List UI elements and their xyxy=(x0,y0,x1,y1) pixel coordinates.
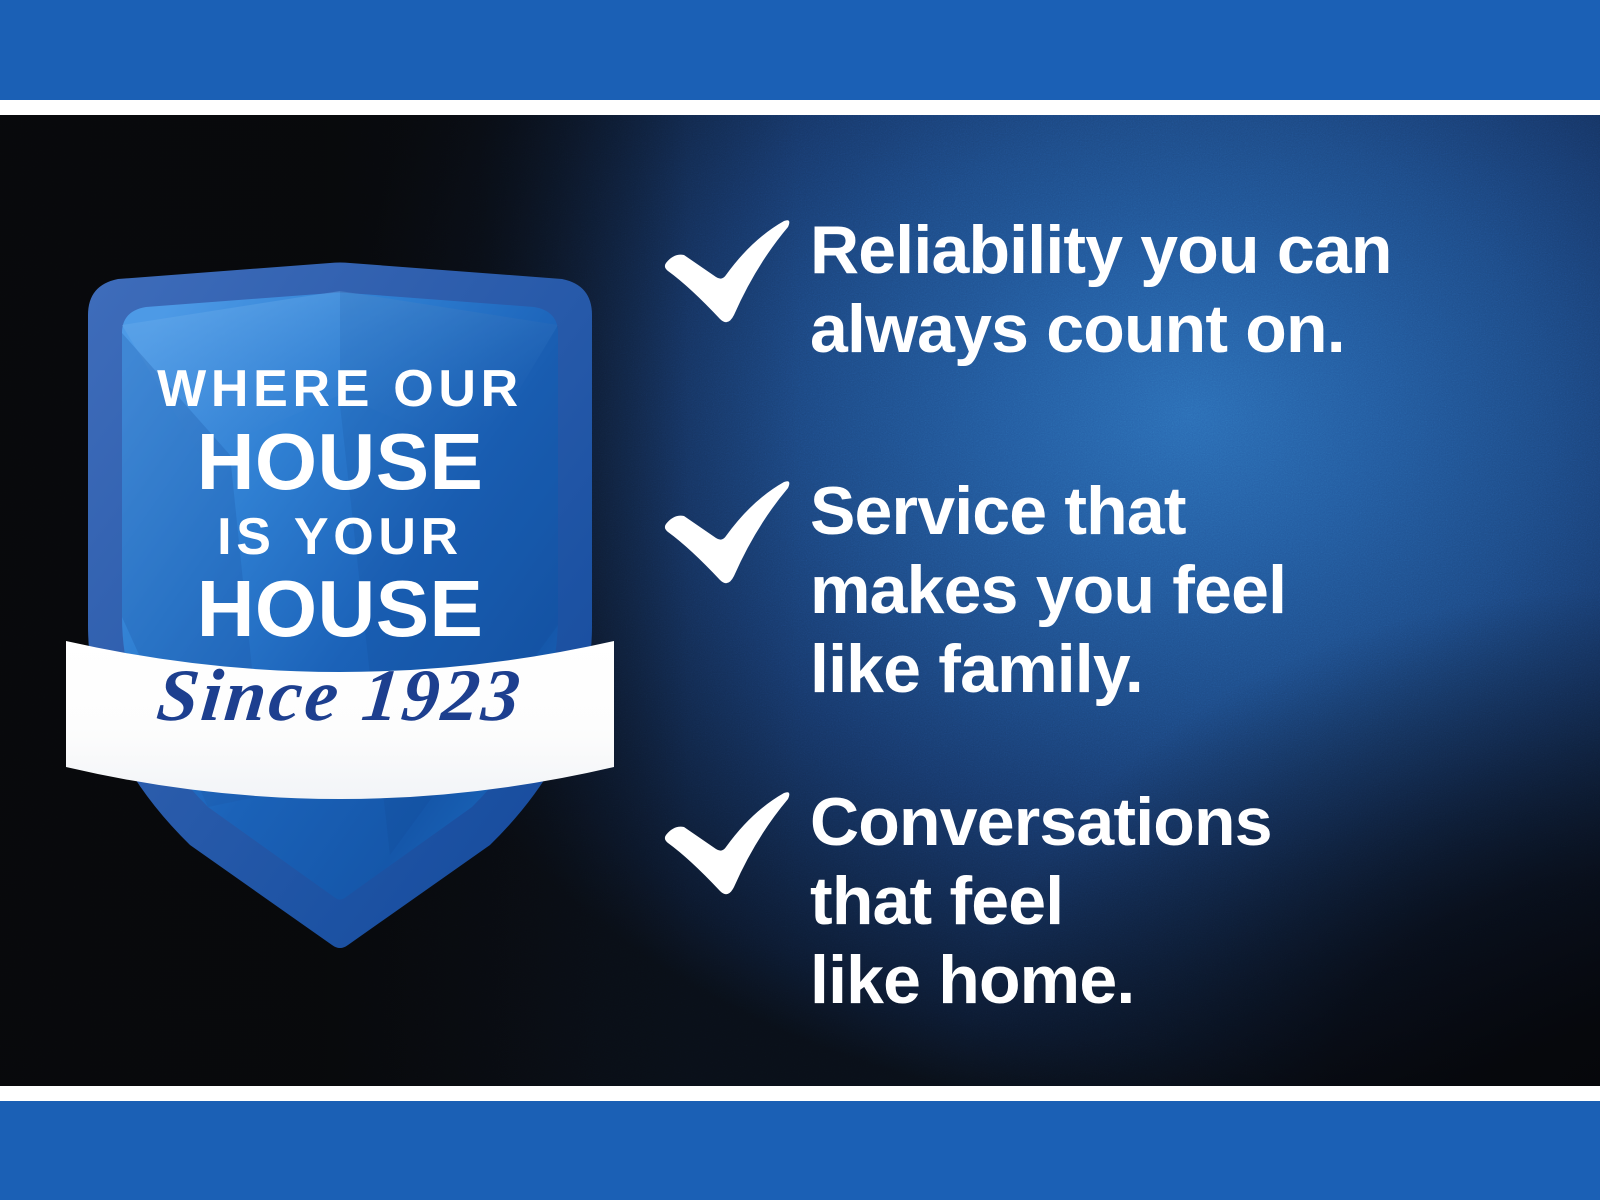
benefit-text: Reliability you can always count on. xyxy=(810,211,1540,369)
benefits-list: Reliability you can always count on. Ser… xyxy=(660,115,1540,1086)
checkmark-icon xyxy=(660,783,810,899)
main-stage: WHERE OUR HOUSE IS YOUR HOUSE Since 1923… xyxy=(0,115,1600,1086)
benefit-item: Service that makes you feel like family. xyxy=(660,472,1540,709)
checkmark-icon xyxy=(660,472,810,588)
benefit-text: Service that makes you feel like family. xyxy=(810,472,1540,709)
checkmark-icon xyxy=(660,211,810,327)
benefit-item: Conversations that feel like home. xyxy=(660,783,1540,1020)
top-brand-bar xyxy=(0,0,1600,100)
benefit-text: Conversations that feel like home. xyxy=(810,783,1540,1020)
bottom-white-divider xyxy=(0,1086,1600,1101)
bottom-brand-bar xyxy=(0,1101,1600,1200)
top-white-divider xyxy=(0,100,1600,115)
shield-badge: WHERE OUR HOUSE IS YOUR HOUSE Since 1923 xyxy=(60,155,620,955)
promo-poster: WHERE OUR HOUSE IS YOUR HOUSE Since 1923… xyxy=(0,0,1600,1200)
benefit-item: Reliability you can always count on. xyxy=(660,211,1540,369)
